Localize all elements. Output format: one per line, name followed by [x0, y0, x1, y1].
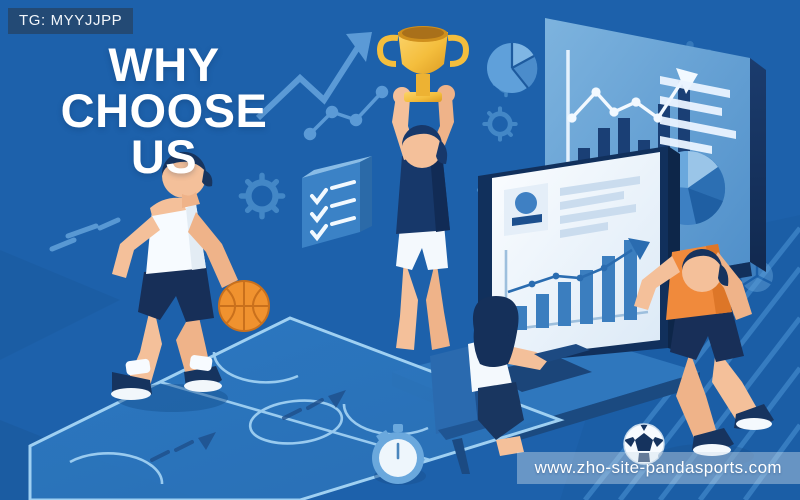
screen-avatar-card [504, 183, 548, 236]
promo-banner: WHY CHOOSE US TG: MYYJJPP www.zho-site-p… [0, 0, 800, 500]
basketball [219, 281, 269, 331]
page-title: WHY CHOOSE US [38, 42, 290, 180]
site-watermark: www.zho-site-pandasports.com [517, 452, 800, 484]
headline-line-2: CHOOSE [38, 88, 290, 134]
telegram-tag-badge: TG: MYYJJPP [8, 8, 133, 34]
headline-line-1: WHY [38, 42, 290, 88]
pie-chart-small [487, 43, 537, 93]
headline-line-3: US [38, 134, 290, 180]
